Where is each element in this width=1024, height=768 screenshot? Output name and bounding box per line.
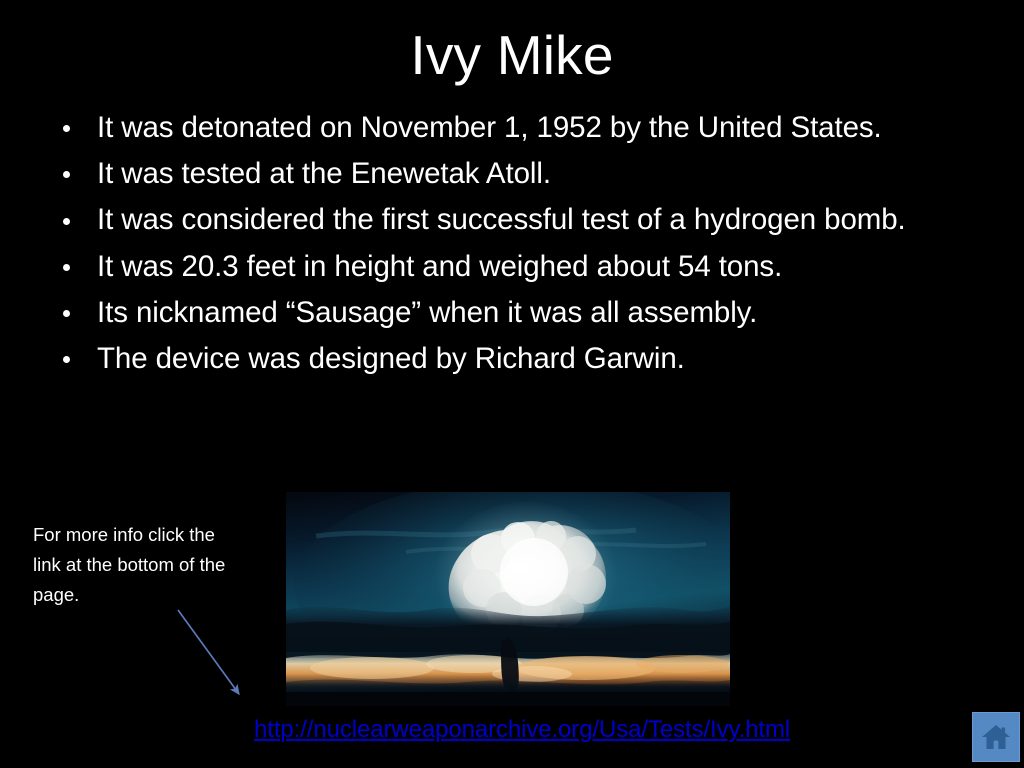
side-caption-text: For more info click the link at the bott… bbox=[33, 520, 241, 610]
bullet-dot-icon bbox=[63, 264, 70, 271]
list-item: Its nicknamed “Sausage” when it was all … bbox=[52, 293, 942, 332]
list-item: The device was designed by Richard Garwi… bbox=[52, 339, 942, 378]
bullet-list: It was detonated on November 1, 1952 by … bbox=[52, 108, 942, 385]
list-item-text: Its nicknamed “Sausage” when it was all … bbox=[97, 296, 757, 329]
page-title: Ivy Mike bbox=[0, 23, 1024, 88]
list-item-text: It was tested at the Enewetak Atoll. bbox=[97, 157, 551, 190]
mushroom-cloud-photo bbox=[286, 492, 730, 706]
mushroom-cloud-image bbox=[286, 492, 730, 706]
list-item: It was considered the first successful t… bbox=[52, 200, 942, 239]
list-item: It was detonated on November 1, 1952 by … bbox=[52, 108, 942, 147]
bullet-dot-icon bbox=[63, 218, 70, 225]
slide-canvas: Ivy Mike It was detonated on November 1,… bbox=[0, 0, 1024, 768]
arrow-down-right-icon bbox=[165, 598, 260, 708]
home-icon bbox=[981, 723, 1011, 751]
bullet-dot-icon bbox=[63, 171, 70, 178]
home-button[interactable] bbox=[972, 712, 1020, 762]
bullet-dot-icon bbox=[63, 125, 70, 132]
list-item-text: It was detonated on November 1, 1952 by … bbox=[97, 111, 882, 144]
list-item: It was tested at the Enewetak Atoll. bbox=[52, 154, 942, 193]
bullet-dot-icon bbox=[63, 310, 70, 317]
list-item-text: The device was designed by Richard Garwi… bbox=[97, 342, 685, 375]
bullet-dot-icon bbox=[63, 356, 70, 363]
list-item-text: It was 20.3 feet in height and weighed a… bbox=[97, 250, 782, 283]
source-link[interactable]: http://nuclearweaponarchive.org/Usa/Test… bbox=[254, 716, 790, 744]
list-item: It was 20.3 feet in height and weighed a… bbox=[52, 247, 942, 286]
list-item-text: It was considered the first successful t… bbox=[97, 203, 906, 236]
